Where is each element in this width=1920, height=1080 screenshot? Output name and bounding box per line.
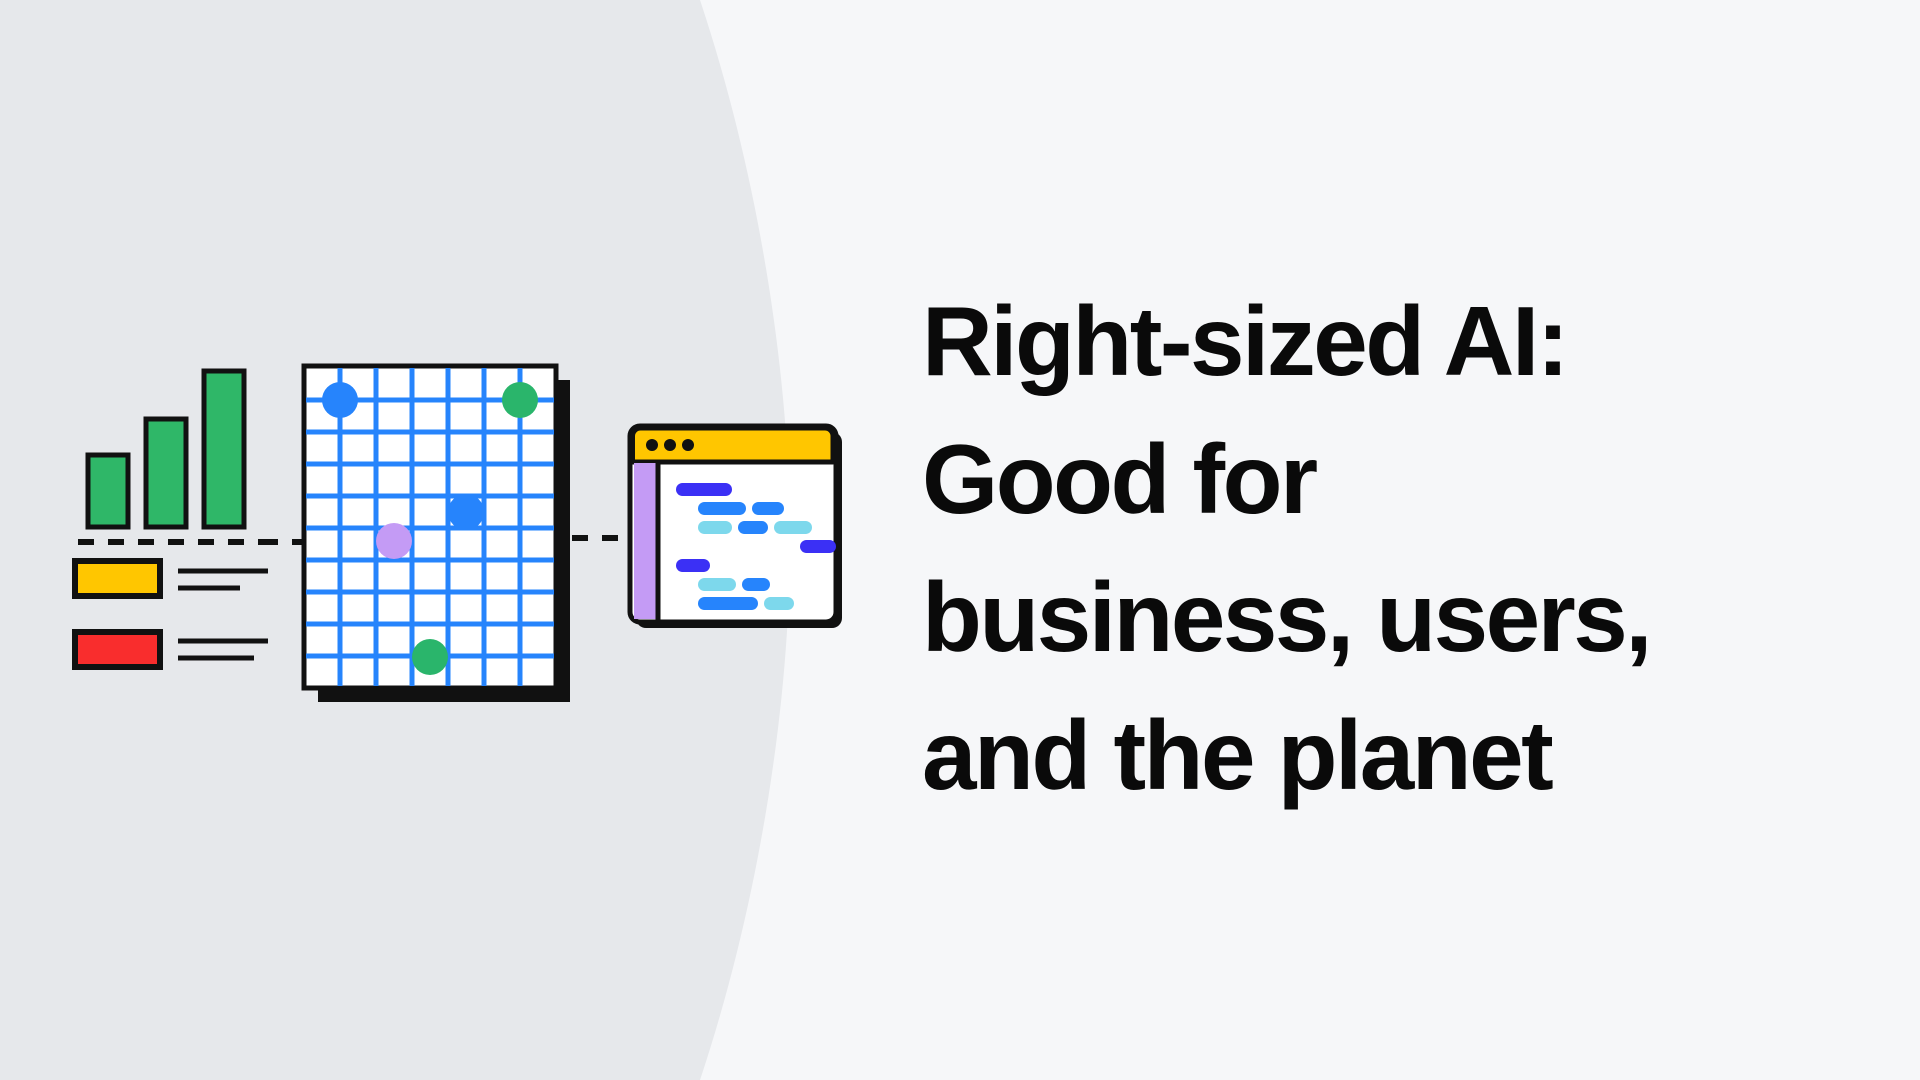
- page-title-line-1: Right-sized AI:: [922, 272, 1862, 410]
- bar-2: [146, 419, 186, 527]
- page-title-line-2: Good for: [922, 410, 1862, 548]
- scatter-point-1: [322, 382, 358, 418]
- code-line-7-token-1: [698, 597, 758, 610]
- scatter-point-3: [448, 494, 484, 530]
- code-line-6-token-2: [742, 578, 770, 591]
- code-line-6-token-1: [698, 578, 736, 591]
- scatter-point-2: [502, 382, 538, 418]
- code-line-3-token-3: [774, 521, 812, 534]
- code-window-titlebar: [633, 428, 834, 462]
- code-line-2-token-1: [698, 502, 746, 515]
- legend-swatch-red: [75, 632, 160, 667]
- code-line-3-token-1: [698, 521, 732, 534]
- scatter-point-5: [412, 639, 448, 675]
- bar-1: [88, 455, 128, 527]
- scatter-point-4: [376, 523, 412, 559]
- page-root: Right-sized AI: Good for business, users…: [0, 0, 1920, 1080]
- code-window-sidebar: [634, 463, 656, 619]
- code-line-4-token-1: [800, 540, 836, 553]
- legend: [75, 561, 268, 667]
- code-line-1-token-1: [676, 483, 732, 496]
- titlebar-dot-3[interactable]: [682, 439, 694, 451]
- titlebar-dot-1[interactable]: [646, 439, 658, 451]
- bar-chart: [78, 371, 272, 542]
- bar-3: [204, 371, 244, 527]
- code-line-7-token-2: [764, 597, 794, 610]
- legend-swatch-yellow: [75, 561, 160, 596]
- scatter-grid-panel: [304, 366, 570, 702]
- legend-item-yellow: [75, 561, 268, 596]
- page-title-line-3: business, users,: [922, 548, 1862, 686]
- titlebar-dot-2[interactable]: [664, 439, 676, 451]
- code-line-3-token-2: [738, 521, 768, 534]
- legend-item-red: [75, 632, 268, 667]
- code-line-2-token-2: [752, 502, 784, 515]
- page-title: Right-sized AI: Good for business, users…: [922, 272, 1862, 824]
- code-editor-window: [630, 426, 842, 628]
- ai-model-sizing-illustration: [0, 0, 900, 1080]
- code-line-5-token-1: [676, 559, 710, 572]
- page-title-line-4: and the planet: [922, 686, 1862, 824]
